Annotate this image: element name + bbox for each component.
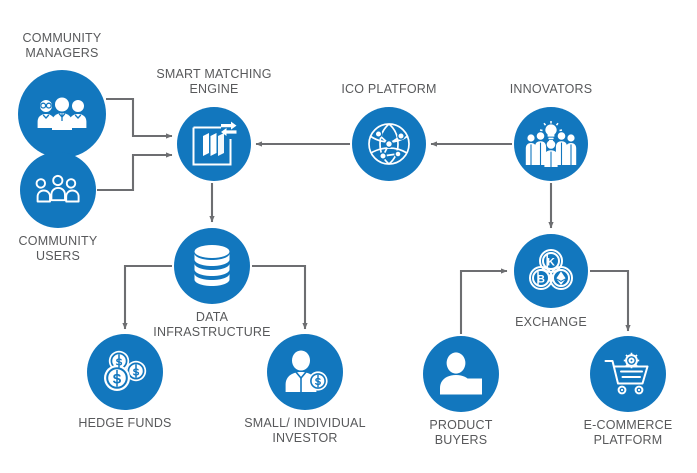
hedge-funds-label: HEDGE FUNDS	[78, 416, 171, 431]
data-infrastructure-disc[interactable]	[174, 228, 250, 304]
product-buyers-label: PRODUCT BUYERS	[429, 418, 492, 447]
diagram-canvas: COMMUNITY MANAGERS COMMUNITY USERS	[0, 0, 697, 473]
ico-platform-disc[interactable]	[352, 107, 426, 181]
database-cylinder-icon	[191, 244, 233, 288]
community-managers-disc[interactable]	[18, 70, 106, 158]
product-buyers-disc[interactable]	[423, 336, 499, 412]
people-group-outline-icon	[35, 173, 81, 207]
edge-users-to-engine	[97, 155, 172, 190]
e-commerce-platform-label: E-COMMERCE PLATFORM	[584, 418, 673, 447]
dollar-coins-icon: S S S	[101, 350, 149, 394]
exchange-disc[interactable]: K B	[514, 234, 588, 308]
small-individual-investor-disc[interactable]: S	[267, 334, 343, 410]
svg-text:K: K	[547, 257, 555, 269]
edge-managers-to-engine	[106, 99, 172, 136]
crypto-coins-icon: K B	[526, 248, 576, 294]
smart-matching-engine-disc[interactable]	[177, 107, 251, 181]
people-lightbulb-icon	[525, 121, 577, 167]
innovators-label: INNOVATORS	[510, 82, 593, 97]
person-shopping-bag-icon	[438, 352, 484, 396]
data-infrastructure-label: DATA INFRASTRUCTURE	[153, 310, 270, 339]
community-managers-label: COMMUNITY MANAGERS	[23, 31, 102, 60]
people-group-business-icon	[37, 97, 87, 131]
smart-matching-engine-label: SMART MATCHING ENGINE	[156, 67, 271, 96]
layers-exchange-icon	[190, 120, 238, 168]
shopping-cart-gear-icon	[604, 352, 652, 396]
hedge-funds-disc[interactable]: S S S	[87, 334, 163, 410]
small-individual-investor-label: SMALL/ INDIVIDUAL INVESTOR	[244, 416, 366, 445]
community-users-label: COMMUNITY USERS	[19, 234, 98, 263]
community-users-disc[interactable]	[20, 152, 96, 228]
person-dollar-icon: S	[281, 350, 329, 394]
globe-network-icon	[365, 120, 413, 168]
innovators-disc[interactable]	[514, 107, 588, 181]
edge-buyers-to-exchange	[461, 271, 507, 334]
edge-exchange-to-ecommerce	[590, 271, 628, 331]
exchange-label: EXCHANGE	[515, 315, 587, 330]
e-commerce-platform-disc[interactable]	[590, 336, 666, 412]
ico-platform-label: ICO PLATFORM	[341, 82, 436, 97]
